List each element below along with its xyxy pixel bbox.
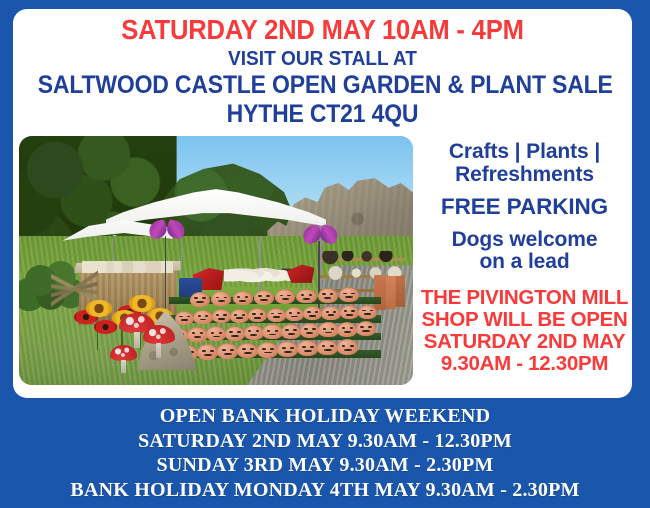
pot-eye	[368, 326, 371, 328]
pot-eye	[242, 314, 245, 316]
white-content-card: SATURDAY 2ND MAY 10AM - 4PM VISIT OUR ST…	[13, 9, 632, 398]
info-column: Crafts | Plants | Refreshments FREE PARK…	[417, 141, 632, 375]
pot-eye	[258, 295, 261, 297]
terracotta-face-pot	[281, 324, 301, 339]
pot-mouth	[264, 352, 272, 354]
pot-mouth	[244, 352, 252, 354]
pot-eye	[222, 349, 226, 351]
pot-mouth	[362, 330, 369, 332]
pot-eye	[312, 328, 315, 330]
pot-mouth	[346, 314, 353, 316]
toadstool-ornament	[143, 325, 175, 355]
terracotta-face-pot	[193, 310, 212, 324]
pot-eye	[256, 330, 259, 332]
terracotta-face-pot	[230, 309, 249, 323]
terracotta-face-pot	[187, 327, 207, 342]
sunflower-ornament	[86, 300, 112, 316]
pot-eye	[350, 327, 353, 329]
terracotta-face-pot	[267, 308, 286, 322]
flyer-poster: SATURDAY 2ND MAY 10AM - 4PM VISIT OUR ST…	[0, 0, 650, 508]
shop-notice-line-1: THE PIVINGTON MILL	[417, 287, 632, 309]
pot-mouth	[328, 314, 335, 316]
pot-eye	[326, 311, 329, 313]
pot-eye	[260, 313, 263, 315]
pot-eye	[237, 331, 240, 333]
terracotta-face-pots	[169, 290, 382, 365]
band-line-3: SUNDAY 3RD MAY 9.30AM - 2.30PM	[0, 453, 650, 478]
pot-eye	[331, 328, 334, 330]
toadstool-ornament	[110, 345, 138, 370]
pot-eye	[234, 314, 237, 316]
pot-eye	[315, 311, 318, 313]
pot-eye	[342, 345, 346, 347]
terracotta-face-pot	[318, 288, 338, 303]
terracotta-face-pot	[262, 324, 282, 339]
terracotta-face-pot	[297, 340, 318, 356]
pot-eye	[322, 293, 325, 295]
terracotta-face-pot	[217, 343, 238, 359]
pot-mouth	[218, 300, 225, 302]
pot-eye	[362, 310, 365, 312]
pot-mouth	[324, 297, 331, 299]
pot-mouth	[231, 335, 238, 337]
pot-mouth	[288, 333, 295, 335]
pot-eye	[230, 349, 234, 351]
pot-mouth	[200, 319, 207, 321]
free-parking-line: FREE PARKING	[417, 195, 632, 219]
toadstool-stem	[121, 360, 125, 373]
pot-eye	[219, 332, 222, 334]
stall-photo	[19, 136, 413, 385]
pot-eye	[252, 313, 255, 315]
terracotta-face-pot	[257, 342, 278, 358]
band-line-2: SATURDAY 2ND MAY 9.30AM - 12.30PM	[0, 429, 650, 454]
pot-eye	[271, 313, 274, 315]
band-line-1: OPEN BANK HOLIDAY WEEKEND	[0, 400, 650, 429]
pot-eye	[310, 346, 314, 348]
pot-mouth	[269, 334, 276, 336]
pot-mouth	[304, 350, 312, 352]
pot-eye	[351, 310, 354, 312]
pot-eye	[266, 295, 269, 297]
pot-eye	[210, 350, 214, 352]
pot-mouth	[213, 336, 220, 338]
venue-location-line: HYTHE CT21 4QU	[38, 100, 607, 129]
pot-eye	[205, 315, 208, 317]
pot-eye	[342, 327, 345, 329]
terracotta-face-pot	[285, 307, 304, 321]
terracotta-face-pot	[212, 309, 231, 323]
terracotta-face-pot	[197, 344, 218, 360]
terracotta-face-pot	[175, 311, 194, 325]
terracotta-face-pot	[337, 339, 358, 355]
terracotta-face-pot	[244, 325, 264, 340]
terracotta-face-pot	[340, 305, 359, 319]
toadstool-cap	[110, 345, 138, 360]
pot-eye	[322, 345, 326, 347]
pot-eye	[360, 326, 363, 328]
pot-mouth	[325, 332, 332, 334]
terracotta-face-pot	[206, 326, 226, 341]
terracotta-face-pot	[275, 289, 295, 304]
pot-mouth	[224, 353, 232, 355]
pot-mouth	[324, 349, 332, 351]
stall-photo-scene	[19, 136, 413, 385]
pot-mouth	[282, 298, 289, 300]
pot-eye	[290, 347, 294, 349]
pot-eye	[297, 312, 300, 314]
pot-mouth	[309, 315, 316, 317]
pot-eye	[333, 311, 336, 313]
pot-eye	[275, 330, 278, 332]
pot-eye	[211, 332, 214, 334]
terracotta-face-pot	[339, 287, 359, 302]
pot-eye	[309, 294, 312, 296]
venue-name-line: SALTWOOD CASTLE OPEN GARDEN & PLANT SALE	[38, 71, 607, 100]
pot-eye	[287, 295, 290, 297]
shop-notice-line-4: 9.30AM - 12.30PM	[417, 353, 632, 375]
pot-eye	[293, 329, 296, 331]
pot-eye	[278, 313, 281, 315]
pot-eye	[262, 348, 266, 350]
pot-mouth	[291, 316, 298, 318]
pot-eye	[289, 312, 292, 314]
pot-eye	[301, 294, 304, 296]
pot-eye	[192, 332, 195, 334]
pot-eye	[330, 345, 334, 347]
shop-notice-line-2: SHOP WILL BE OPEN	[417, 309, 632, 331]
pot-mouth	[284, 351, 292, 353]
pot-eye	[343, 293, 346, 295]
butterfly-stake-pole	[165, 236, 166, 311]
pot-eye	[200, 332, 203, 334]
pot-eye	[237, 296, 240, 298]
pot-eye	[267, 330, 270, 332]
pot-mouth	[254, 317, 261, 319]
pot-mouth	[364, 313, 371, 315]
pot-eye	[248, 330, 251, 332]
pot-mouth	[204, 354, 212, 356]
pot-eye	[187, 316, 190, 318]
terracotta-face-pot	[254, 290, 274, 305]
pot-eye	[370, 310, 373, 312]
band-line-4: BANK HOLIDAY MONDAY 4TH MAY 9.30AM - 2.3…	[0, 478, 650, 503]
pot-mouth	[218, 318, 225, 320]
terracotta-face-pot	[277, 341, 298, 357]
terracotta-face-pot	[337, 322, 357, 337]
terracotta-face-pot	[356, 321, 376, 336]
pot-eye	[229, 331, 232, 333]
visit-stall-line: VISIT OUR STALL AT	[35, 46, 611, 71]
butterfly-ornament	[303, 226, 338, 243]
pot-eye	[270, 348, 274, 350]
pot-eye	[351, 293, 354, 295]
pot-eye	[304, 328, 307, 330]
terracotta-face-pot	[358, 305, 377, 319]
pot-eye	[223, 314, 226, 316]
pot-eye	[179, 316, 182, 318]
pot-eye	[216, 297, 219, 299]
offerings-line-1: Crafts | Plants |	[417, 141, 632, 164]
terracotta-face-pot	[233, 291, 253, 306]
pot-mouth	[344, 331, 351, 333]
terracotta-face-pot	[300, 323, 320, 338]
pot-eye	[245, 296, 248, 298]
terracotta-face-pot	[211, 291, 231, 306]
pot-eye	[202, 350, 206, 352]
pot-eye	[202, 297, 205, 299]
pot-mouth	[181, 319, 188, 321]
offerings-line-2: Refreshments	[417, 164, 632, 187]
pot-mouth	[344, 349, 352, 351]
pot-eye	[330, 293, 333, 295]
pot-eye	[216, 314, 219, 316]
pot-eye	[350, 345, 354, 347]
terracotta-face-pot	[225, 326, 245, 341]
pot-eye	[280, 295, 283, 297]
pot-mouth	[303, 298, 310, 300]
pot-mouth	[196, 301, 203, 303]
toadstool-cap	[143, 325, 175, 344]
terracotta-face-pot	[296, 289, 316, 304]
toadstool-stem	[156, 343, 161, 359]
pot-mouth	[273, 316, 280, 318]
terracotta-face-pot	[317, 340, 338, 356]
pot-eye	[285, 329, 288, 331]
shop-notice-line-3: SATURDAY 2ND MAY	[417, 331, 632, 353]
butterfly-ornament	[149, 221, 184, 238]
pot-mouth	[239, 300, 246, 302]
terracotta-face-pot	[321, 306, 340, 320]
event-date-time: SATURDAY 2ND MAY 10AM - 4PM	[35, 13, 611, 46]
pot-eye	[307, 311, 310, 313]
dogs-welcome-line-1: Dogs welcome	[417, 229, 632, 252]
pot-eye	[282, 347, 286, 349]
pot-mouth	[194, 336, 201, 338]
pot-eye	[323, 328, 326, 330]
pot-eye	[224, 297, 227, 299]
headline-block: SATURDAY 2ND MAY 10AM - 4PM VISIT OUR ST…	[13, 13, 632, 129]
opening-hours-band: OPEN BANK HOLIDAY WEEKEND SATURDAY 2ND M…	[0, 400, 650, 508]
terracotta-face-pot	[318, 322, 338, 337]
pot-eye	[344, 310, 347, 312]
pot-eye	[242, 348, 246, 350]
pot-eye	[194, 297, 197, 299]
pot-mouth	[345, 296, 352, 298]
pot-mouth	[250, 334, 257, 336]
pot-mouth	[306, 332, 313, 334]
pot-eye	[302, 346, 306, 348]
pot-mouth	[260, 299, 267, 301]
dogs-welcome-line-2: on a lead	[417, 251, 632, 274]
terracotta-face-pot	[190, 292, 210, 307]
pot-eye	[198, 315, 201, 317]
terracotta-face-pot	[237, 343, 258, 359]
pot-mouth	[236, 317, 243, 319]
pot-eye	[250, 348, 254, 350]
